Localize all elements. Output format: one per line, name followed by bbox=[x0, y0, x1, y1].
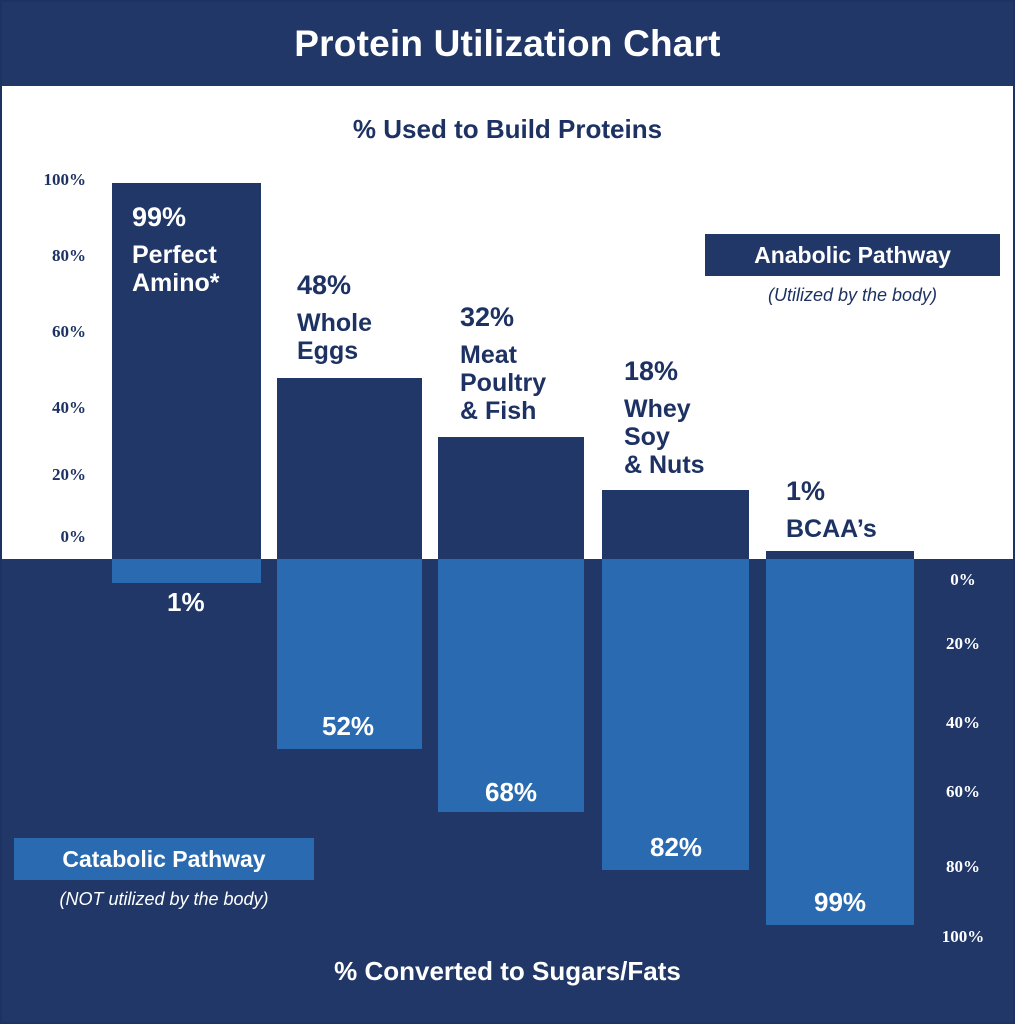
bar-name-whole-eggs: Whole Eggs bbox=[297, 309, 372, 365]
left-axis-tick-100: 100% bbox=[22, 170, 86, 190]
bar-value-down-whole-eggs: 52% bbox=[322, 711, 374, 742]
bar-value-up-whey-soy-nuts: 18% bbox=[624, 356, 705, 386]
left-axis-tick-80: 80% bbox=[22, 246, 86, 266]
catabolic-pathway-sublabel: (NOT utilized by the body) bbox=[14, 889, 314, 910]
catabolic-pathway-label: Catabolic Pathway bbox=[62, 846, 265, 873]
right-axis-tick-40: 40% bbox=[927, 713, 999, 733]
bar-label-bcaas: 1% BCAA’s bbox=[786, 476, 877, 543]
left-axis-tick-40: 40% bbox=[22, 398, 86, 418]
bar-value-up-whole-eggs: 48% bbox=[297, 270, 372, 300]
bar-label-whey-soy-nuts: 18% Whey Soy & Nuts bbox=[624, 356, 705, 479]
catabolic-pathway-badge: Catabolic Pathway bbox=[14, 838, 314, 880]
bar-name-meat-poultry-fish: Meat Poultry & Fish bbox=[460, 341, 546, 425]
right-axis-tick-0: 0% bbox=[927, 570, 999, 590]
bar-down-bcaas[interactable] bbox=[766, 559, 914, 925]
left-axis-tick-0: 0% bbox=[22, 527, 86, 547]
right-axis-tick-100: 100% bbox=[927, 927, 999, 947]
right-axis-tick-20: 20% bbox=[927, 634, 999, 654]
anabolic-pathway-label: Anabolic Pathway bbox=[754, 242, 951, 269]
bottom-axis-title: % Converted to Sugars/Fats bbox=[2, 956, 1013, 987]
bar-name-perfect-amino: Perfect Amino* bbox=[132, 241, 220, 297]
title-bar: Protein Utilization Chart bbox=[2, 2, 1013, 86]
chart-page: Protein Utilization Chart % Used to Buil… bbox=[0, 0, 1015, 1024]
bar-label-perfect-amino: 99% Perfect Amino* bbox=[132, 202, 220, 297]
bar-up-meat-poultry-fish[interactable] bbox=[438, 437, 584, 559]
bar-up-bcaas[interactable] bbox=[766, 551, 914, 559]
bar-label-whole-eggs: 48% Whole Eggs bbox=[297, 270, 372, 365]
bar-down-meat-poultry-fish[interactable] bbox=[438, 559, 584, 812]
bar-down-whey-soy-nuts[interactable] bbox=[602, 559, 749, 870]
bar-label-meat-poultry-fish: 32% Meat Poultry & Fish bbox=[460, 302, 546, 425]
bar-down-perfect-amino[interactable] bbox=[112, 559, 261, 583]
bar-value-down-bcaas: 99% bbox=[814, 887, 866, 918]
bar-name-whey-soy-nuts: Whey Soy & Nuts bbox=[624, 395, 705, 479]
bar-value-down-whey-soy-nuts: 82% bbox=[650, 832, 702, 863]
bar-up-whole-eggs[interactable] bbox=[277, 378, 422, 559]
right-axis-tick-60: 60% bbox=[927, 782, 999, 802]
bar-value-down-meat-poultry-fish: 68% bbox=[485, 777, 537, 808]
page-title: Protein Utilization Chart bbox=[294, 23, 720, 65]
right-axis-tick-80: 80% bbox=[927, 857, 999, 877]
bar-value-up-meat-poultry-fish: 32% bbox=[460, 302, 546, 332]
left-axis-tick-20: 20% bbox=[22, 465, 86, 485]
bar-value-up-perfect-amino: 99% bbox=[132, 202, 220, 232]
anabolic-pathway-badge: Anabolic Pathway bbox=[705, 234, 1000, 276]
bar-up-whey-soy-nuts[interactable] bbox=[602, 490, 749, 559]
bar-value-down-perfect-amino: 1% bbox=[167, 587, 205, 618]
bar-value-up-bcaas: 1% bbox=[786, 476, 877, 506]
anabolic-pathway-sublabel: (Utilized by the body) bbox=[705, 285, 1000, 306]
bar-name-bcaas: BCAA’s bbox=[786, 515, 877, 543]
left-axis-tick-60: 60% bbox=[22, 322, 86, 342]
top-axis-title: % Used to Build Proteins bbox=[2, 114, 1013, 145]
